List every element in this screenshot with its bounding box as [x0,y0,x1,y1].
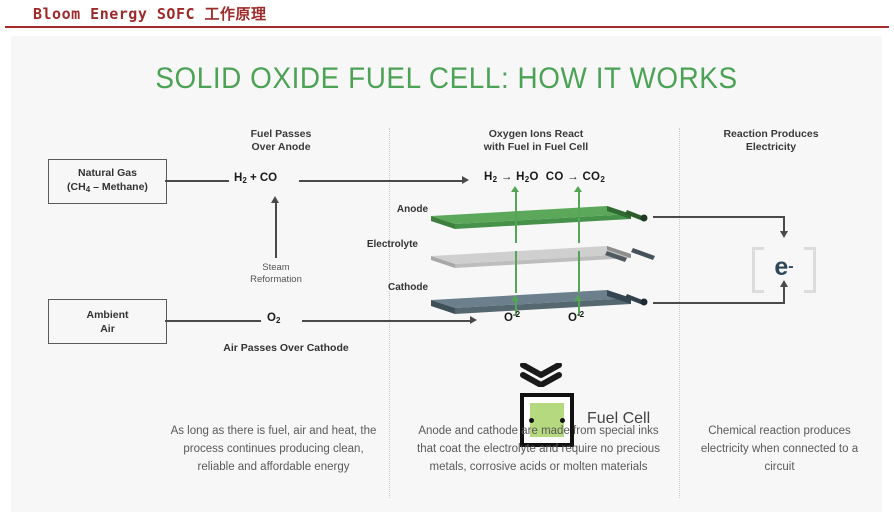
oxygen-species-label: O2 [267,312,280,325]
flow-arrowhead-to-anode [462,176,469,184]
column-heading-fuel-passes: Fuel Passes Over Anode [191,128,371,154]
circuit-wire-anode-vertical [783,216,785,232]
ambient-air-input-box: Ambient Air [48,299,167,344]
anode-plate [431,206,648,229]
column-heading-line2: Over Anode [251,141,310,153]
oxygen-ion-label-left: O-2 [504,310,520,324]
natural-gas-label: Natural Gas [78,167,137,179]
ion-flow-line-left-mid [515,251,517,293]
reaction-formula-label: H2 → H2O CO → CO2 [484,171,605,184]
header-divider-rule [5,26,889,28]
caption-left: As long as there is fuel, air and heat, … [166,422,381,476]
natural-gas-input-box: Natural Gas (CH4 – Methane) [48,159,167,204]
column-heading-line1: Reaction Produces [723,128,818,140]
column-heading-line1: Oxygen Ions React [489,128,584,140]
ion-flow-arrowhead-right-lower [574,295,582,301]
double-chevron-down-icon [519,363,563,387]
ion-flow-line-right-upper [578,191,580,243]
slide-canvas: SOLID OXIDE FUEL CELL: HOW IT WORKS Fuel… [11,36,882,512]
cathode-label: Cathode [338,282,428,293]
electron-symbol: e- [748,239,820,295]
flowline-fuel-to-anode [299,180,462,182]
caption-right: Chemical reaction produces electricity w… [687,422,872,476]
document-title: Bloom Energy SOFC 工作原理 [33,3,267,24]
column-heading-line1: Fuel Passes [251,128,312,140]
fuel-species-label: H2 + CO [234,172,277,185]
document-header: Bloom Energy SOFC 工作原理 [0,0,894,30]
circuit-wire-anode-horizontal [653,216,785,218]
steam-reformation-label: Steam Reformation [211,262,341,286]
column-heading-line2: with Fuel in Fuel Cell [484,141,588,153]
column-heading-line2: Electricity [746,141,796,153]
cathode-plate [431,290,648,314]
anode-label: Anode [338,204,428,215]
flowline-gas-to-fuel [165,180,229,182]
ion-flow-arrowhead-right-upper [574,186,582,192]
ambient-air-label-line2: Air [100,323,115,335]
flowline-air-to-o2 [165,320,261,322]
slide-title: SOLID OXIDE FUEL CELL: HOW IT WORKS [41,62,851,96]
electron-indicator: e- [748,239,820,295]
ion-flow-line-left-upper [515,191,517,243]
circuit-wire-cathode-horizontal [653,302,785,304]
air-passes-over-cathode-label: Air Passes Over Cathode [156,342,416,354]
column-divider-left [389,128,390,498]
steam-reformation-arrowhead [271,196,279,203]
column-heading-reaction-produces: Reaction Produces Electricity [671,128,871,154]
electrolyte-plate [431,246,655,268]
ambient-air-label-line1: Ambient [87,309,129,321]
steam-reformation-line [275,202,277,258]
ion-flow-line-right-mid [578,251,580,293]
ion-flow-arrowhead-left-lower [511,295,519,301]
ion-flow-arrowhead-left-upper [511,186,519,192]
circuit-arrowhead-into-electron-top [780,231,788,238]
electrolyte-label: Electrolyte [328,239,418,250]
caption-center: Anode and cathode are made from special … [411,422,666,476]
column-heading-oxygen-ions: Oxygen Ions React with Fuel in Fuel Cell [411,128,661,154]
oxygen-ion-label-right: O-2 [568,310,584,324]
natural-gas-formula: (CH4 – Methane) [67,181,148,193]
